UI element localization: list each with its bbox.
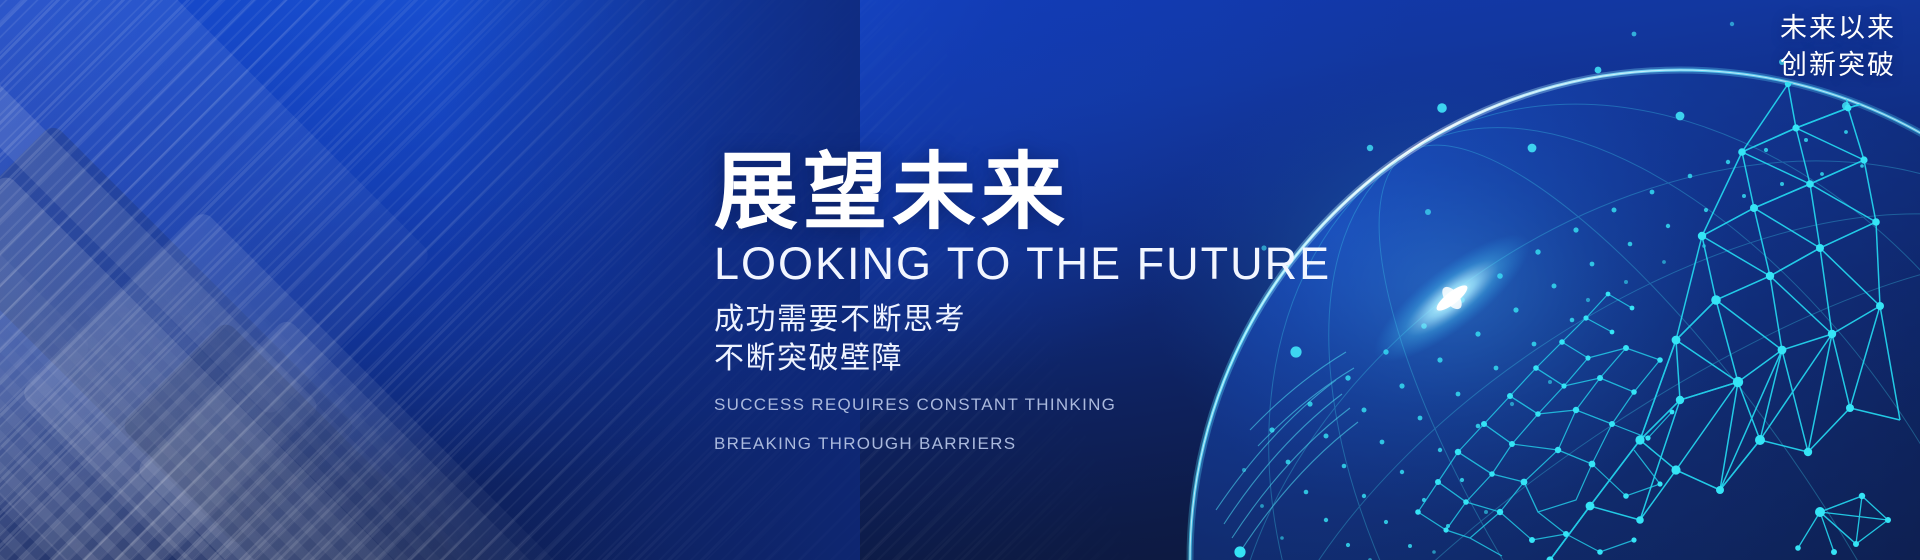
decor-slab-dark-1 (0, 123, 357, 547)
decor-slab-2 (0, 0, 433, 418)
headline-copy-block: 展望未来 LOOKING TO THE FUTURE 成功需要不断思考 不断突破… (714, 150, 1331, 458)
promo-banner: 展望未来 LOOKING TO THE FUTURE 成功需要不断思考 不断突破… (0, 0, 1920, 560)
tagline-chinese-line-2: 不断突破壁障 (714, 339, 1331, 379)
decor-slab-1 (0, 0, 321, 560)
corner-slogan-line-2: 创新突破 (1780, 47, 1896, 84)
diagonal-dot-grid-icon (0, 192, 508, 560)
tagline-english-line-1: SUCCESS REQUIRES CONSTANT THINKING (714, 391, 1331, 419)
page-title: 展望未来 (714, 150, 1331, 234)
decor-slab-3 (0, 173, 437, 560)
page-subtitle-english: LOOKING TO THE FUTURE (714, 240, 1331, 288)
decor-slab-4 (19, 209, 571, 560)
tagline-chinese-line-1: 成功需要不断思考 (714, 300, 1331, 340)
decor-slab-5 (0, 0, 93, 471)
tagline-english-line-2: BREAKING THROUGH BARRIERS (714, 430, 1331, 458)
corner-slogan-line-1: 未来以来 (1780, 10, 1896, 47)
corner-slogan: 未来以来 创新突破 (1780, 10, 1896, 85)
decor-slab-dark-2 (120, 320, 481, 560)
decor-slab-6 (134, 317, 590, 560)
